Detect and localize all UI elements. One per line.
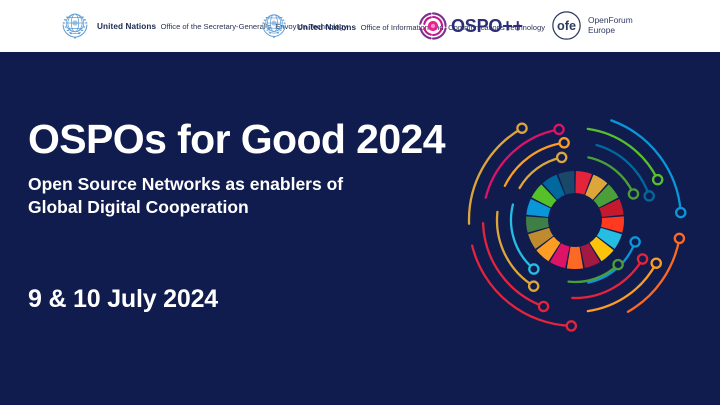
sdg-arc-node xyxy=(675,234,684,243)
sdg-arc xyxy=(588,129,658,180)
logo-openforum-europe: ofe OpenForum Europe xyxy=(551,10,633,41)
sponsor-logo-bar: United Nations Office of the Secretary-G… xyxy=(0,0,720,52)
logo-un-oset-title: United Nations xyxy=(97,22,156,31)
sdg-arc-node xyxy=(652,259,661,268)
ofe-text-line-1: OpenForum xyxy=(588,16,633,26)
svg-text:ofe: ofe xyxy=(557,18,576,33)
presentation-slide: United Nations Office of the Secretary-G… xyxy=(0,0,720,405)
sdg-arc-node xyxy=(613,260,622,269)
sdg-arc xyxy=(628,238,679,311)
ofe-text: OpenForum Europe xyxy=(588,16,633,36)
logo-un-oset-subtitle-1: Office of the Secretary-General's xyxy=(161,22,271,31)
sdg-arc-node xyxy=(529,264,538,273)
slide-copy: OSPOs for Good 2024 Open Source Networks… xyxy=(28,119,458,220)
sdg-arc xyxy=(596,145,649,196)
un-emblem-icon xyxy=(58,8,92,42)
ospo-spiral-icon xyxy=(418,11,448,41)
sdg-arc-node xyxy=(539,302,548,311)
sdg-arc-node xyxy=(517,124,526,133)
sdg-segment xyxy=(567,247,583,269)
sdg-arc xyxy=(469,128,522,223)
sdg-arc-node xyxy=(557,153,566,162)
event-dates: 9 & 10 July 2024 xyxy=(28,285,218,314)
sdg-arc-node xyxy=(676,208,685,217)
sdg-colour-ring xyxy=(526,171,624,269)
logo-ospo-plus-plus: OSPO++ xyxy=(418,11,523,41)
sdg-arc-node xyxy=(560,138,569,147)
ofe-ring-icon: ofe xyxy=(551,10,582,41)
sdg-arc-node xyxy=(645,191,654,200)
un-emblem-icon xyxy=(258,9,292,43)
event-subtitle-line-1: Open Source Networks as enablers of xyxy=(28,173,458,196)
sdg-arc-node xyxy=(529,282,538,291)
sdg-arc-node xyxy=(554,125,563,134)
sdg-arc-node xyxy=(629,189,638,198)
sdg-arc xyxy=(588,263,656,311)
logo-un-oict-title: United Nations xyxy=(297,23,356,32)
ofe-text-line-2: Europe xyxy=(588,26,633,36)
sdg-arc-group xyxy=(469,120,685,330)
event-subtitle: Open Source Networks as enablers of Glob… xyxy=(28,173,458,220)
sdg-arc-node xyxy=(631,237,640,246)
sdg-arc-node xyxy=(638,254,647,263)
event-title: OSPOs for Good 2024 xyxy=(28,119,458,160)
event-subtitle-line-2: Global Digital Cooperation xyxy=(28,196,458,219)
sdg-arc-node xyxy=(653,175,662,184)
ospo-wordmark: OSPO++ xyxy=(451,16,523,37)
sdg-arc-node xyxy=(567,321,576,330)
sdg-network-wheel xyxy=(455,100,695,340)
